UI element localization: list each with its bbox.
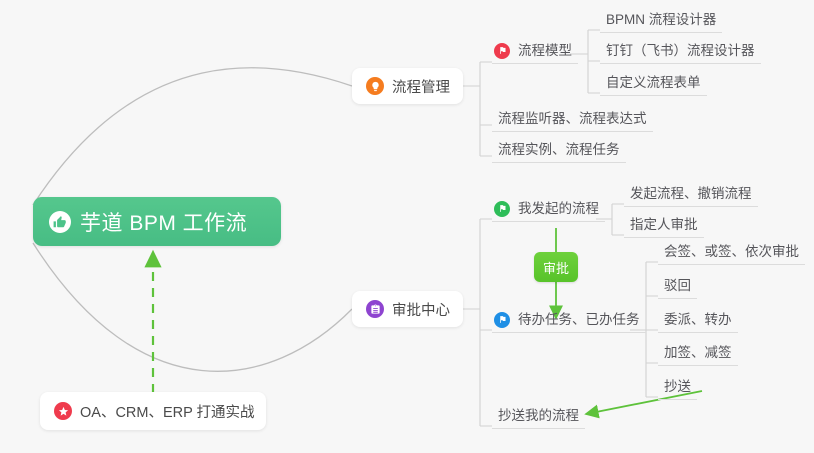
approval-badge[interactable]: 审批 <box>534 252 578 282</box>
topic-process-model[interactable]: 流程模型 <box>492 42 578 64</box>
topic-label-my-started: 我发起的流程 <box>518 199 599 219</box>
topic-cc[interactable]: 抄送 <box>658 378 697 400</box>
topic-label-add-remove-sign: 加签、减签 <box>664 343 732 363</box>
topic-label-cc-to-me: 抄送我的流程 <box>498 406 579 426</box>
topic-label-bpmn-designer: BPMN 流程设计器 <box>606 10 716 30</box>
thumbs-up-icon <box>49 211 71 233</box>
floating-node-integration[interactable]: OA、CRM、ERP 打通实战 <box>40 392 266 430</box>
topic-label-countersign: 会签、或签、依次审批 <box>664 242 799 262</box>
topic-assignee-approval[interactable]: 指定人审批 <box>624 216 704 238</box>
topic-cc-to-me[interactable]: 抄送我的流程 <box>492 407 585 429</box>
topic-label-custom-form: 自定义流程表单 <box>606 73 701 93</box>
connector-approval-center-spine <box>463 219 480 426</box>
flag-icon <box>494 201 510 217</box>
topic-label-assignee-approval: 指定人审批 <box>630 215 698 235</box>
root-node[interactable]: 芋道 BPM 工作流 <box>33 197 281 246</box>
connector-my-started-stubs <box>612 204 624 235</box>
mindmap-canvas[interactable]: 芋道 BPM 工作流 流程管理 审批中心 流程模型 流程监听器、流程表达式 <box>0 0 814 453</box>
flag-icon <box>494 312 510 328</box>
star-icon <box>54 402 72 420</box>
lightbulb-icon <box>366 77 384 95</box>
connector-approval-center-stubs <box>480 219 492 426</box>
flag-icon <box>494 43 510 59</box>
topic-label-process-listener: 流程监听器、流程表达式 <box>498 109 647 129</box>
topic-start-cancel-process[interactable]: 发起流程、撤销流程 <box>624 185 758 207</box>
topic-countersign[interactable]: 会签、或签、依次审批 <box>658 243 805 265</box>
topic-label-reject: 驳回 <box>664 276 691 296</box>
topic-label-process-instance: 流程实例、流程任务 <box>498 140 620 160</box>
topic-label-todo-done-tasks: 待办任务、已办任务 <box>518 310 640 330</box>
topic-reject[interactable]: 驳回 <box>658 277 697 299</box>
topic-label-delegate-transfer: 委派、转办 <box>664 310 732 330</box>
floating-node-label: OA、CRM、ERP 打通实战 <box>80 401 255 422</box>
clipboard-icon <box>366 300 384 318</box>
topic-delegate-transfer[interactable]: 委派、转办 <box>658 311 738 333</box>
connector-process-management-stubs <box>480 62 492 156</box>
topic-add-remove-sign[interactable]: 加签、减签 <box>658 344 738 366</box>
topic-label-dingtalk-designer: 钉钉（飞书）流程设计器 <box>606 41 755 61</box>
connector-todo-stubs <box>646 262 658 397</box>
topic-label-cc: 抄送 <box>664 377 691 397</box>
topic-todo-done-tasks[interactable]: 待办任务、已办任务 <box>492 311 646 333</box>
topic-my-started[interactable]: 我发起的流程 <box>492 200 605 222</box>
topic-bpmn-designer[interactable]: BPMN 流程设计器 <box>600 11 722 33</box>
topic-process-listener[interactable]: 流程监听器、流程表达式 <box>492 110 653 132</box>
approval-badge-label: 审批 <box>543 258 569 277</box>
connector-root-to-process-management <box>33 68 352 205</box>
branch-node-approval-center[interactable]: 审批中心 <box>352 291 463 327</box>
connector-process-model-stubs <box>588 30 600 93</box>
root-label: 芋道 BPM 工作流 <box>80 207 247 237</box>
topic-dingtalk-designer[interactable]: 钉钉（飞书）流程设计器 <box>600 42 761 64</box>
topic-custom-form[interactable]: 自定义流程表单 <box>600 74 707 96</box>
branch-label-approval-center: 审批中心 <box>392 299 450 320</box>
topic-label-process-model: 流程模型 <box>518 41 572 61</box>
connector-root-to-approval-center <box>33 243 352 371</box>
connector-process-management-spine <box>463 62 480 156</box>
branch-label-process-management: 流程管理 <box>392 76 450 97</box>
branch-node-process-management[interactable]: 流程管理 <box>352 68 463 104</box>
topic-process-instance[interactable]: 流程实例、流程任务 <box>492 141 626 163</box>
topic-label-start-cancel-process: 发起流程、撤销流程 <box>630 184 752 204</box>
